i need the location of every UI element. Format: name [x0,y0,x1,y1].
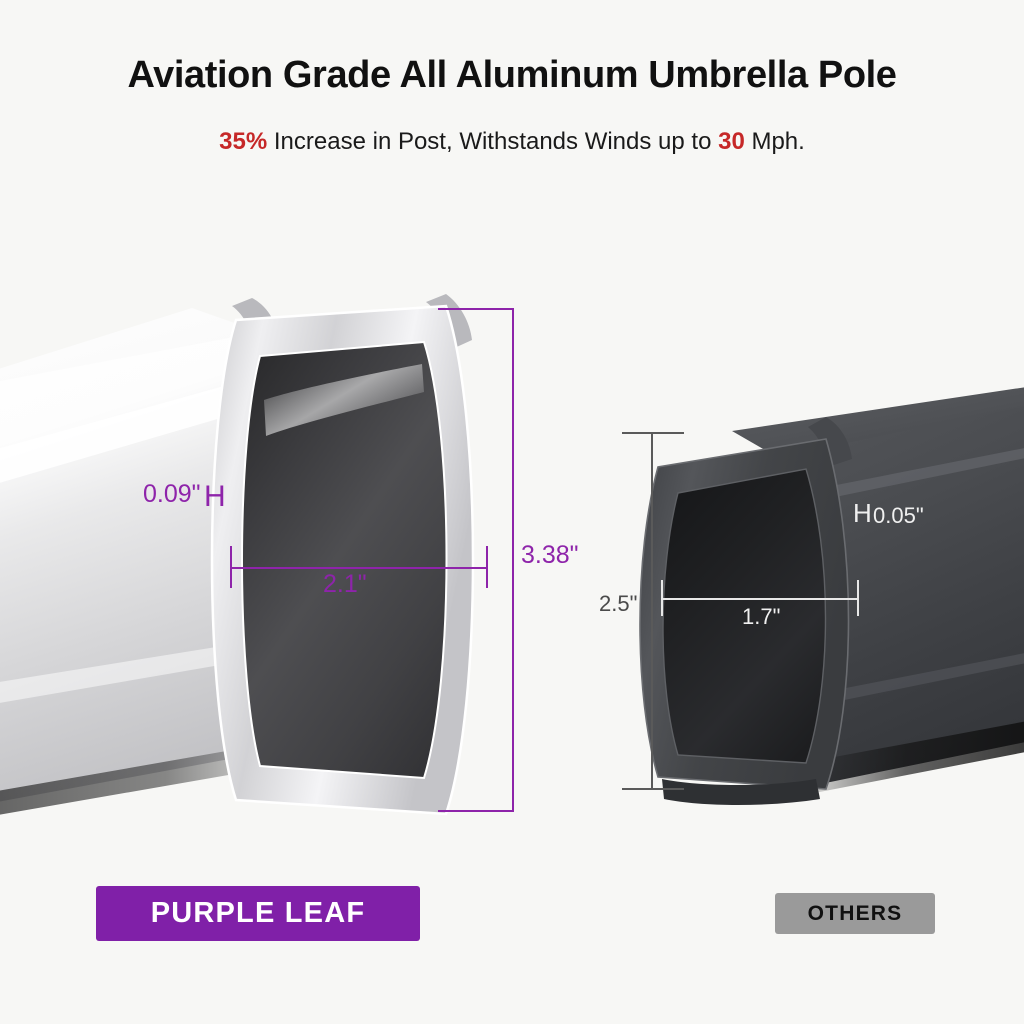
height-dimension-cap-bottom-left [438,810,514,812]
purple-leaf-pole-illustration [0,280,520,840]
brand-badge-purple-leaf[interactable]: PURPLE LEAF [96,886,420,941]
page-title: Aviation Grade All Aluminum Umbrella Pol… [0,54,1024,97]
height-dimension-cap-top-right [622,432,684,434]
infographic-canvas: Aviation Grade All Aluminum Umbrella Pol… [0,0,1024,1024]
height-dimension-line-right [651,432,653,790]
subtitle-tail-text: Mph. [745,128,805,155]
others-pole-inner-bore [663,469,826,763]
width-dimension-cap-start-right [661,580,663,616]
height-dimension-cap-top-left [438,308,514,310]
width-dimension-cap-start-left [230,546,232,588]
brand-badge-others[interactable]: OTHERS [775,893,935,934]
height-label-left: 3.38" [521,541,579,570]
width-dimension-cap-end-right [857,580,859,616]
purple-leaf-pole-graphic [0,280,520,840]
width-dimension-line-left [230,567,488,569]
subtitle-middle-text: Increase in Post, Withstands Winds up to [267,128,718,155]
subtitle-wind-highlight: 30 [718,128,745,155]
subtitle-percent-highlight: 35% [219,128,267,155]
width-dimension-cap-end-left [486,546,488,588]
width-dimension-line-right [661,598,859,600]
others-pole-illustration [620,395,1024,815]
others-pole-graphic [620,395,1024,815]
page-subtitle: 35% Increase in Post, Withstands Winds u… [0,128,1024,156]
height-dimension-line-left [512,308,514,812]
height-dimension-cap-bottom-right [622,788,684,790]
